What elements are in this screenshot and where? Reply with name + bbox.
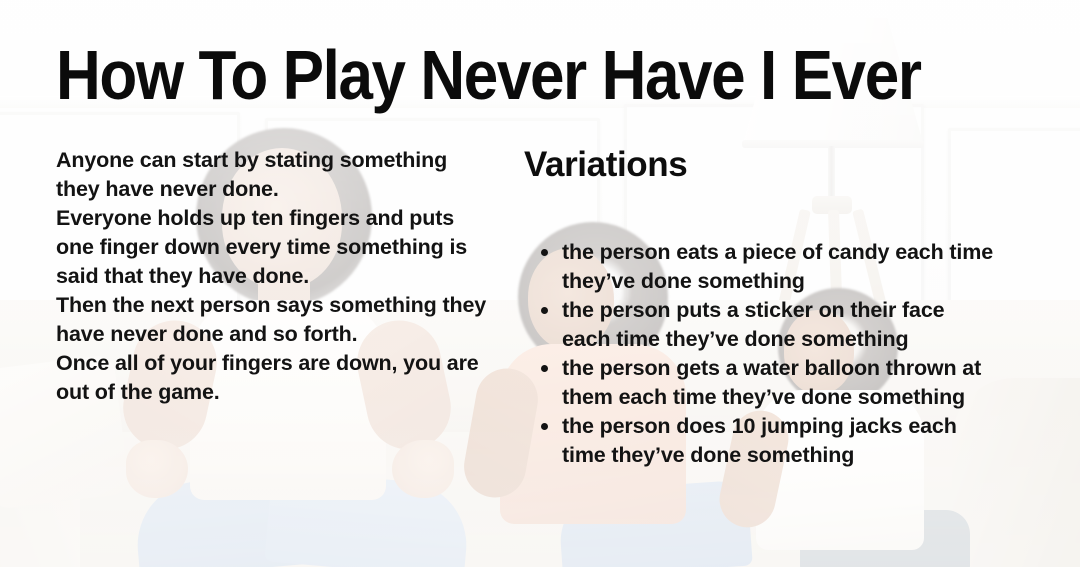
instruction-line: Everyone holds up ten fingers and puts	[56, 204, 526, 233]
slide-canvas: How To Play Never Have I Ever Anyone can…	[0, 0, 1080, 567]
variations-heading: Variations	[524, 147, 687, 184]
instruction-line: said that they have done.	[56, 262, 526, 291]
list-item: the person puts a sticker on their face …	[538, 296, 998, 354]
instruction-line: Once all of your fingers are down, you a…	[56, 349, 526, 378]
list-item: the person gets a water balloon thrown a…	[538, 354, 998, 412]
variations-list: the person eats a piece of candy each ti…	[538, 238, 998, 470]
instructions-block: Anyone can start by stating something th…	[56, 146, 526, 407]
instruction-line: they have never done.	[56, 175, 526, 204]
list-item: the person eats a piece of candy each ti…	[538, 238, 998, 296]
instruction-line: out of the game.	[56, 378, 526, 407]
instruction-line: Anyone can start by stating something	[56, 146, 526, 175]
instruction-line: one finger down every time something is	[56, 233, 526, 262]
slide-content: How To Play Never Have I Ever Anyone can…	[0, 0, 1080, 567]
instruction-line: Then the next person says something they	[56, 291, 526, 320]
instruction-line: have never done and so forth.	[56, 320, 526, 349]
list-item: the person does 10 jumping jacks each ti…	[538, 412, 998, 470]
page-title: How To Play Never Have I Ever	[56, 42, 1036, 111]
